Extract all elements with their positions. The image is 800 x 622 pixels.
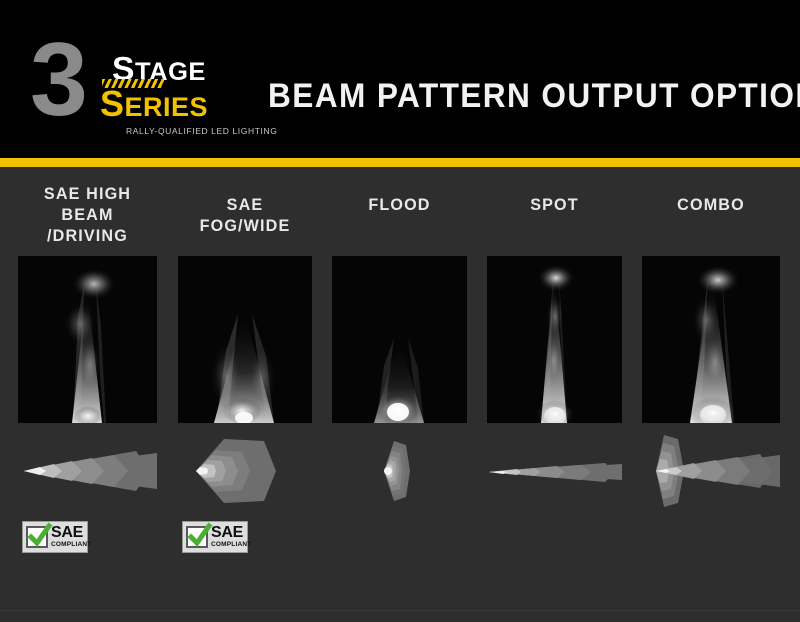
checkmark-icon	[186, 526, 208, 548]
beam-column-label-line1: SAE FOG/WIDE	[200, 195, 291, 235]
sae-badge-text: SAE COMPLIANT	[51, 525, 91, 549]
sae-badge-text: SAE COMPLIANT	[211, 525, 251, 549]
beam-column-label: SAE HIGH BEAM /DRIVING	[21, 183, 153, 246]
night-road-photo-illustration	[487, 256, 622, 423]
beam-column-sae-high-beam-driving: SAE HIGH BEAM /DRIVING	[18, 167, 157, 610]
beam-column-label-line1: SPOT	[530, 195, 579, 214]
night-road-photo-illustration	[642, 256, 780, 423]
sae-compliant-badge: SAE COMPLIANT	[182, 521, 248, 553]
beam-column-label-line1: SAE HIGH BEAM	[44, 184, 131, 224]
sae-badge-main-label: SAE	[51, 525, 91, 541]
beam-photo-combo	[642, 256, 780, 423]
beam-column-spot: SPOT	[487, 167, 622, 610]
sae-badge-sub-label: COMPLIANT	[211, 542, 251, 549]
beam-pattern-diagram-flood	[332, 435, 467, 507]
beam-photo-sae-high-beam-driving	[18, 256, 157, 423]
page-title: BEAM PATTERN OUTPUT OPTIONS	[268, 78, 800, 114]
checkmark-icon	[26, 526, 48, 548]
beam-column-flood: FLOOD	[332, 167, 467, 610]
beam-column-combo: COMBO	[642, 167, 780, 610]
beam-column-label: FLOOD	[335, 194, 463, 215]
beam-pattern-diagram-combo	[642, 435, 780, 507]
sae-compliant-badge: SAE COMPLIANT	[22, 521, 88, 553]
beam-column-label-line1: FLOOD	[368, 195, 430, 214]
beam-column-label: COMBO	[645, 194, 776, 215]
accent-divider	[0, 158, 800, 167]
beam-photo-flood	[332, 256, 467, 423]
sae-badge-sub-label: COMPLIANT	[51, 542, 91, 549]
beam-pattern-diagram-spot	[487, 435, 622, 507]
footer-strip	[0, 610, 800, 622]
beam-pattern-diagram-sae-high-beam-driving	[18, 435, 157, 507]
night-road-photo-illustration	[18, 256, 157, 423]
sae-badge-main-label: SAE	[211, 525, 251, 541]
beam-column-label-line2: /DRIVING	[47, 226, 128, 245]
brand-logo: 3 STAGE SERIES RALLY-QUALIFIED LED LIGHT…	[30, 30, 245, 130]
night-road-photo-illustration	[178, 256, 312, 423]
logo-numeral-3: 3	[30, 28, 84, 132]
beam-photo-sae-fog-wide	[178, 256, 312, 423]
beam-column-label-line1: COMBO	[677, 195, 745, 214]
beam-column-sae-fog-wide: SAE FOG/WIDE	[178, 167, 312, 610]
beam-pattern-infographic: 3 STAGE SERIES RALLY-QUALIFIED LED LIGHT…	[0, 0, 800, 622]
logo-word-series: SERIES	[100, 86, 208, 125]
beam-columns-container: SAE HIGH BEAM /DRIVING	[0, 167, 800, 610]
beam-column-label: SAE FOG/WIDE	[181, 194, 308, 236]
beam-photo-spot	[487, 256, 622, 423]
logo-tagline: RALLY-QUALIFIED LED LIGHTING	[126, 126, 277, 136]
night-road-photo-illustration	[332, 256, 467, 423]
beam-pattern-diagram-sae-fog-wide	[178, 435, 312, 507]
beam-column-label: SPOT	[490, 194, 618, 215]
header-bar: 3 STAGE SERIES RALLY-QUALIFIED LED LIGHT…	[0, 0, 800, 158]
